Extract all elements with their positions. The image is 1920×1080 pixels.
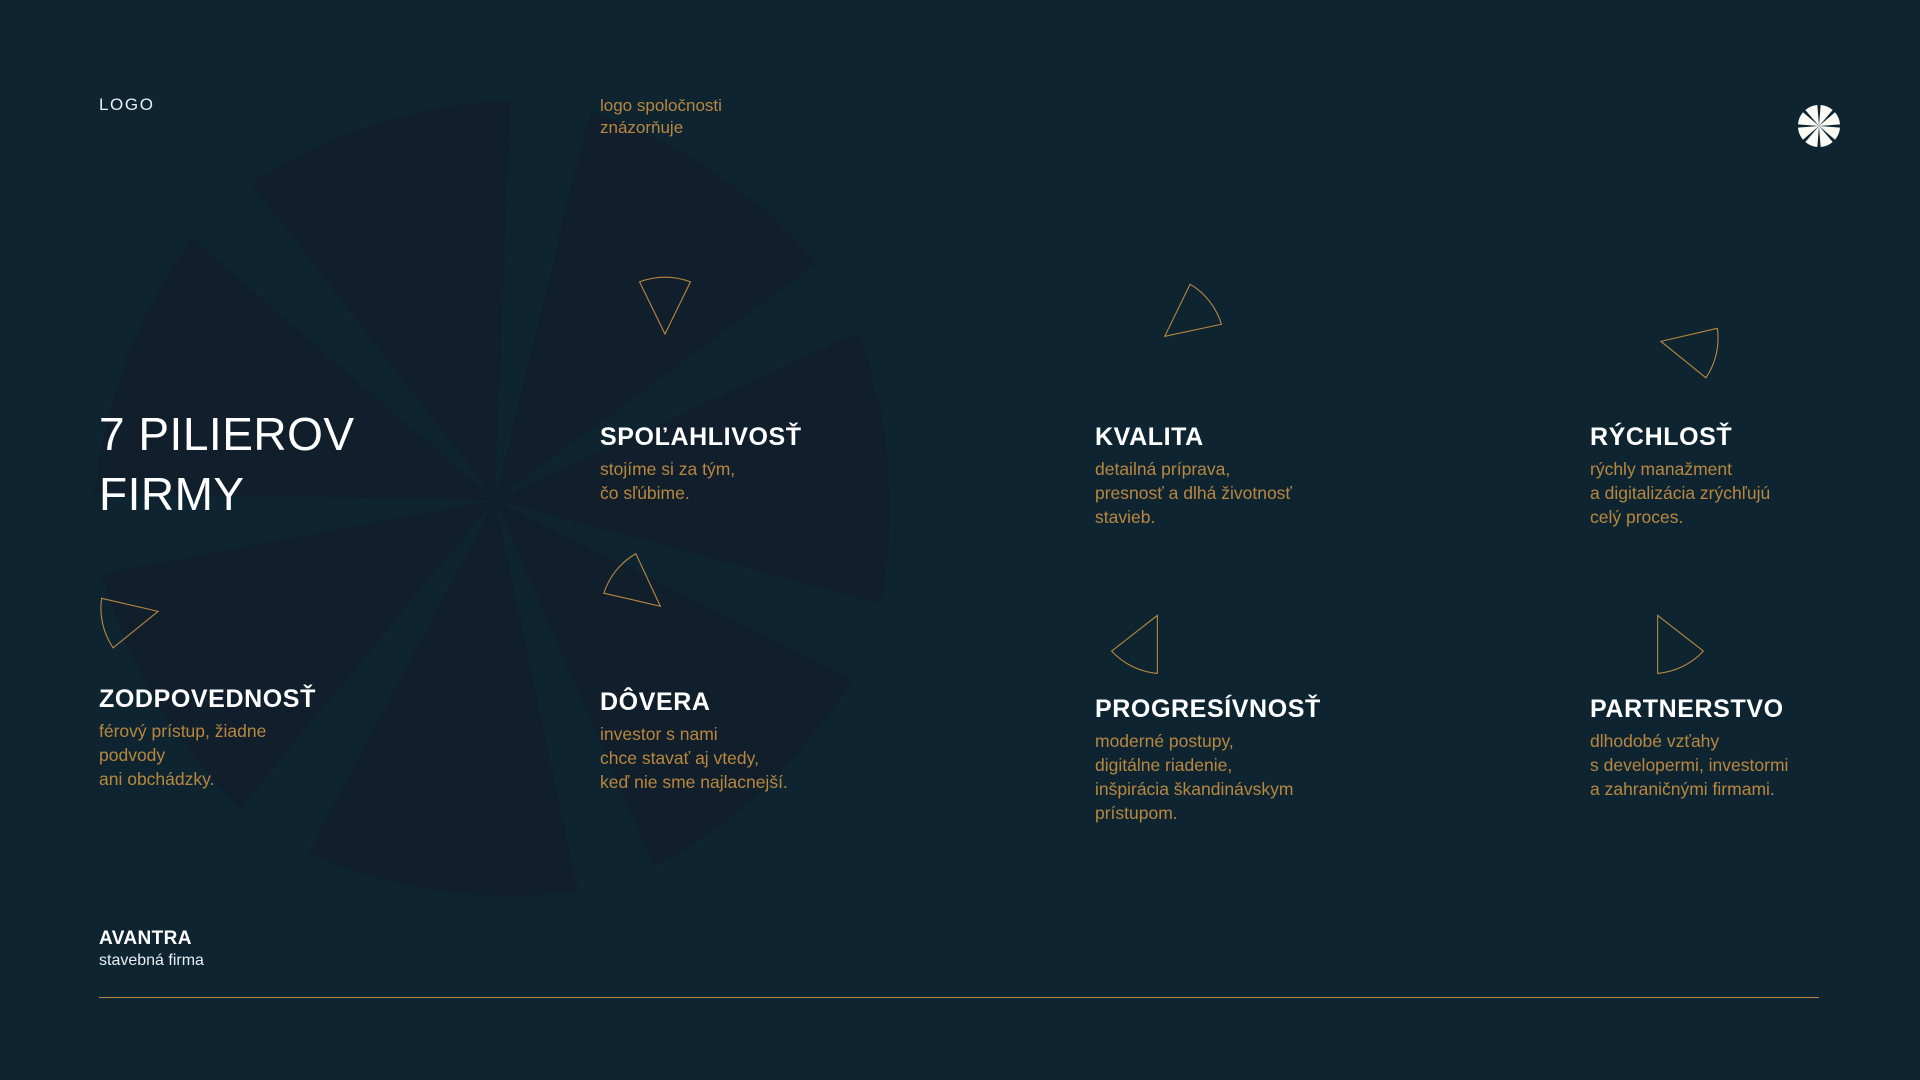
wedge-icon-zodpovednost	[99, 545, 229, 675]
footer-divider	[99, 997, 1819, 998]
pillar-title: PARTNERSTVO	[1590, 695, 1784, 724]
wedge-icon-rychlost	[1590, 275, 1720, 405]
wedge-icon-partnerstvo	[1590, 545, 1720, 675]
pillar-description: detailná príprava, presnosť a dlhá život…	[1095, 457, 1425, 529]
wedge-icon-progresivnost	[1095, 545, 1225, 675]
pillar-description: moderné postupy, digitálne riadenie, inš…	[1095, 729, 1425, 825]
footer-company-name: AVANTRA	[99, 928, 1819, 950]
logo-description-note: logo spoločnosti znázorňuje	[600, 95, 722, 139]
pillar-description: rýchly manažment a digitalizácia zrýchľu…	[1590, 457, 1920, 529]
footer-tagline: stavebná firma	[99, 952, 1819, 970]
pillar-title: PROGRESÍVNOSŤ	[1095, 695, 1321, 724]
page-title: 7 PILIEROV FIRMY	[99, 404, 479, 524]
pillar-title: DÔVERA	[600, 688, 711, 717]
slide-canvas: LOGO logo spoločnosti znázorňuje 7 PILIE…	[0, 0, 1920, 1080]
pillar-description: stojíme si za tým, čo sľúbime.	[600, 457, 930, 505]
wedge-icon-spolahlivost	[600, 275, 730, 405]
seven-segment-wheel-icon	[1788, 95, 1850, 157]
pillar-title: KVALITA	[1095, 423, 1204, 452]
wedge-icon-kvalita	[1095, 275, 1225, 405]
pillar-description: dlhodobé vzťahy s developermi, investorm…	[1590, 729, 1920, 801]
pillar-title: RÝCHLOSŤ	[1590, 423, 1732, 452]
footer: AVANTRA stavebná firma	[99, 928, 1819, 998]
pillar-title: SPOĽAHLIVOSŤ	[600, 423, 802, 452]
pillar-title: ZODPOVEDNOSŤ	[99, 685, 316, 714]
pillar-description: férový prístup, žiadne podvody ani obchá…	[99, 719, 429, 791]
pillar-description: investor s nami chce stavať aj vtedy, ke…	[600, 722, 930, 794]
logo-placeholder-label: LOGO	[99, 95, 155, 115]
wedge-icon-dovera	[600, 545, 730, 675]
